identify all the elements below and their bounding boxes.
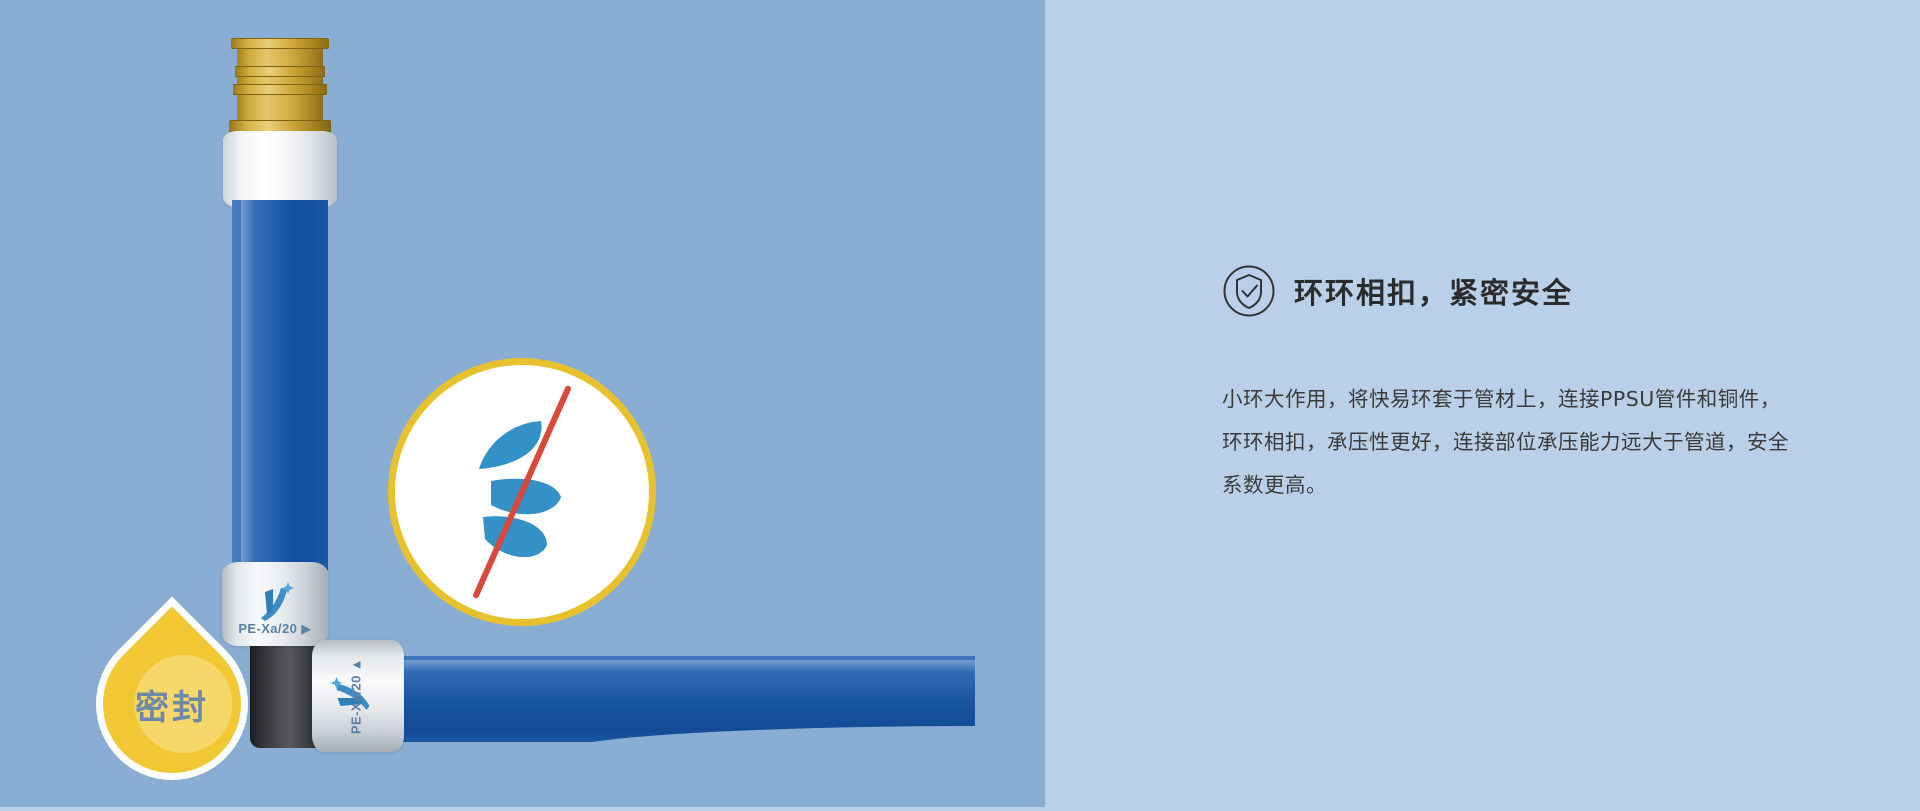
feature-block: 环环相扣，紧密安全 小环大作用，将快易环套于管材上，连接PPSU管件和铜件，环环… — [1222, 246, 1802, 528]
brass-flange-mid-lower — [233, 84, 327, 95]
callout-inner — [395, 365, 649, 619]
brass-fitting — [229, 36, 331, 139]
vertical-pipe-highlight — [241, 200, 255, 570]
horizontal-pipe-highlight — [355, 660, 975, 672]
feature-description: 小环大作用，将快易环套于管材上，连接PPSU管件和铜件，环环相扣，承压性更好，连… — [1222, 378, 1792, 507]
shield-check-icon — [1222, 264, 1276, 318]
feature-heading-row: 环环相扣，紧密安全 — [1222, 246, 1802, 336]
seal-badge-label: 密封 — [96, 628, 248, 780]
ring-spec-label: PE-Xa/20 ▲ — [348, 658, 363, 734]
left-image-panel: PE-Xa/20 ▶ PE-Xa/20 ▲ — [0, 0, 1045, 807]
brass-flange-mid-upper — [235, 66, 325, 77]
quick-ring-horizontal: PE-Xa/20 ▲ — [312, 640, 404, 752]
white-collar — [223, 131, 337, 207]
product-illustration: PE-Xa/20 ▶ PE-Xa/20 ▲ — [0, 0, 1045, 807]
brass-flange-top — [231, 38, 329, 49]
seal-badge: 密封 — [96, 628, 286, 780]
page-root: PE-Xa/20 ▶ PE-Xa/20 ▲ — [0, 0, 1920, 807]
feature-title: 环环相扣，紧密安全 — [1294, 270, 1573, 312]
no-leak-callout — [388, 358, 656, 626]
